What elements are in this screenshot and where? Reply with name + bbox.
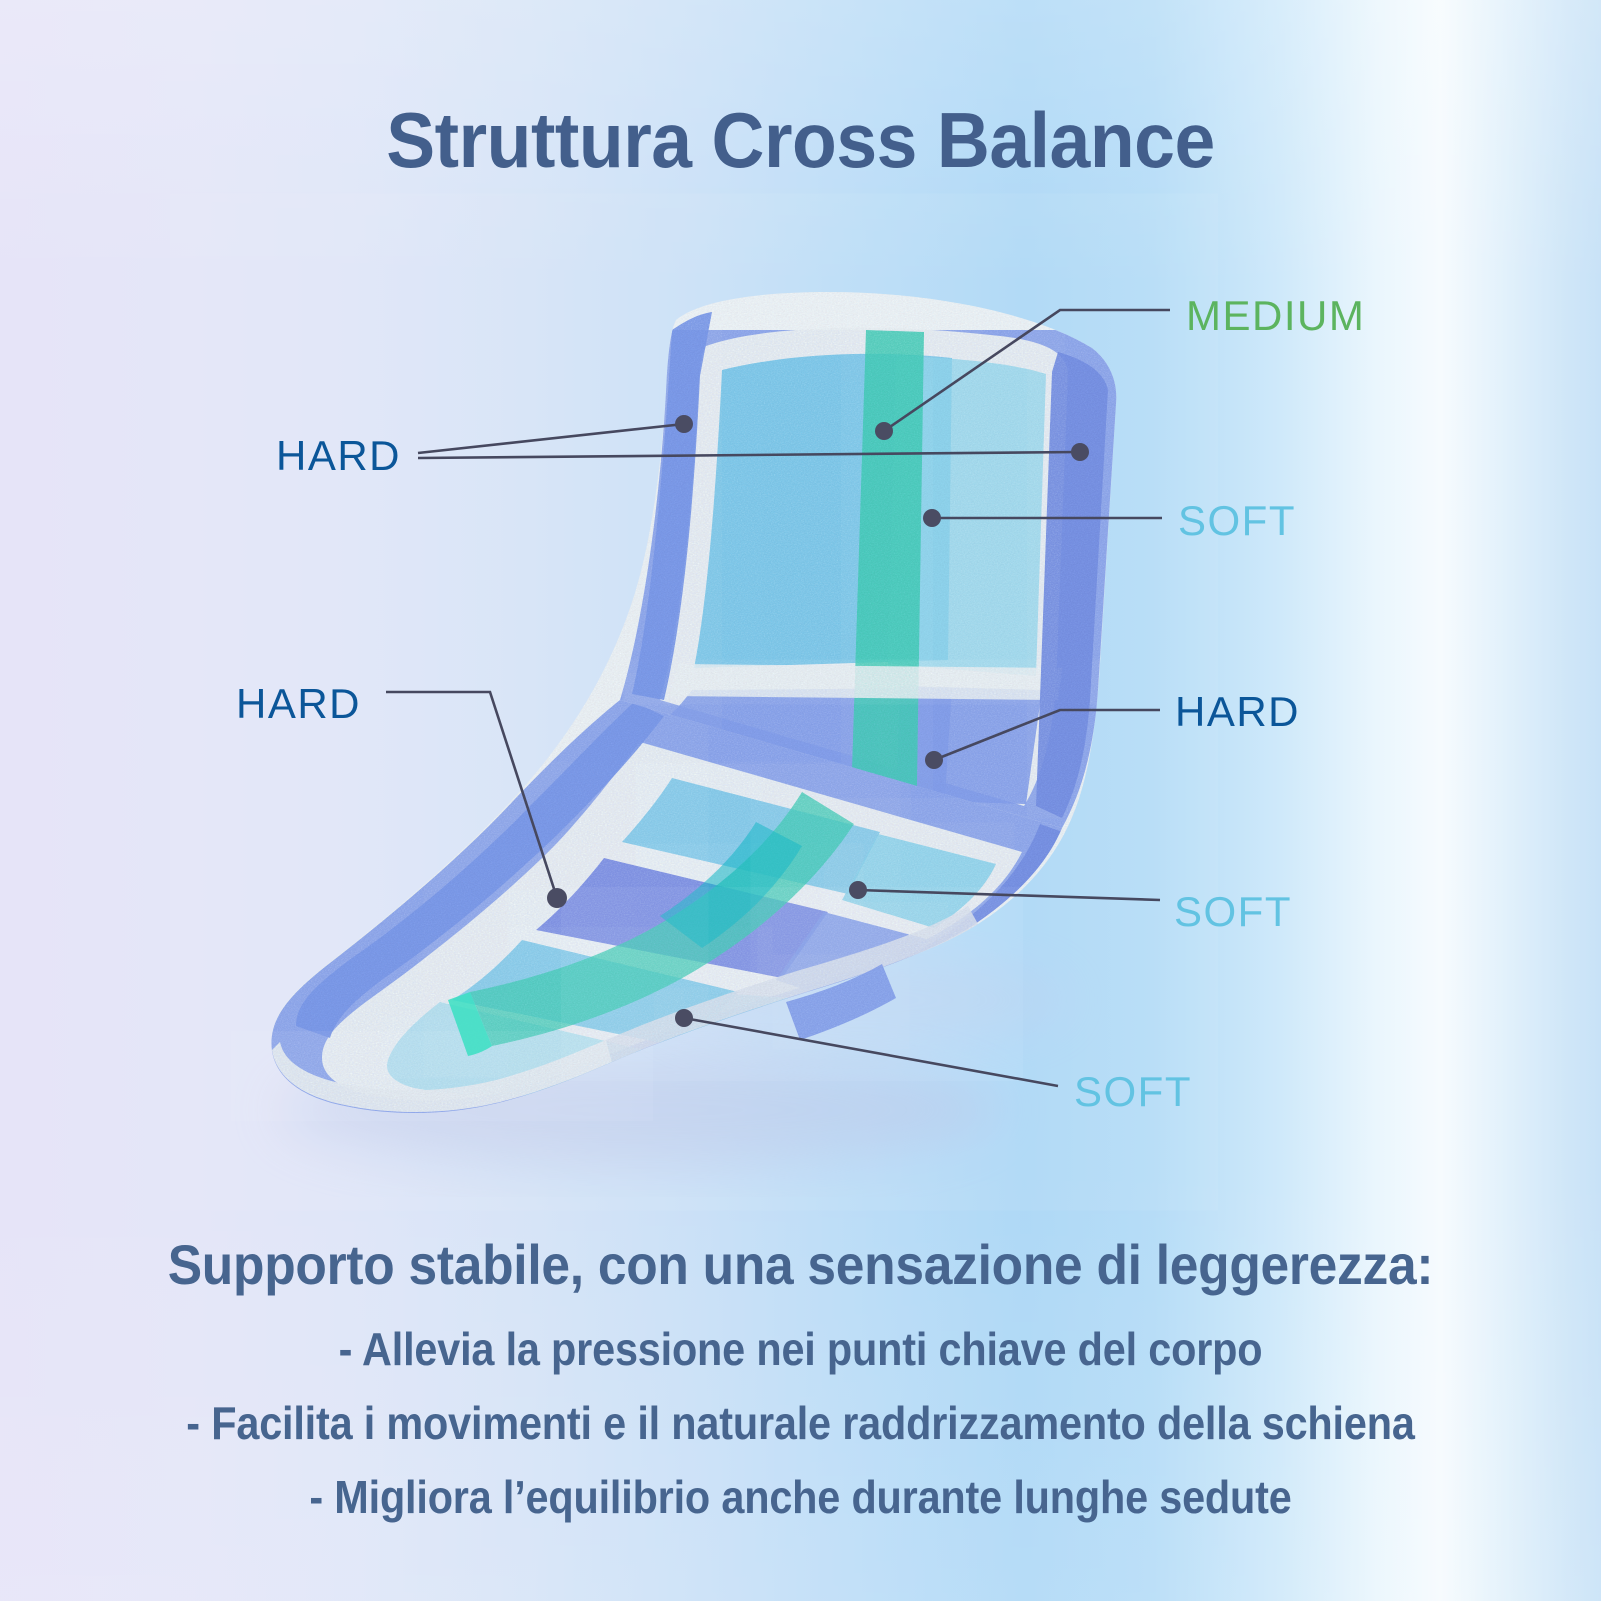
endpoint-medium	[875, 422, 893, 440]
benefits-heading: Supporto stabile, con una sensazione di …	[64, 1232, 1537, 1297]
endpoint-hard-backrest-left	[675, 415, 693, 433]
callout-label-hard-seat-right: HARD	[1175, 688, 1300, 736]
callout-label-medium-top: MEDIUM	[1186, 292, 1365, 340]
page-title: Struttura Cross Balance	[48, 95, 1553, 186]
benefit-item-1: - Allevia la pressione nei punti chiave …	[80, 1322, 1521, 1376]
endpoint-soft-seat-front	[675, 1009, 693, 1027]
endpoint-soft-seat-right	[849, 881, 867, 899]
callout-label-soft-backrest-right: SOFT	[1178, 497, 1296, 545]
callout-label-hard-seat-left: HARD	[236, 680, 361, 728]
endpoint-soft-backrest	[923, 509, 941, 527]
callout-label-soft-seat-front: SOFT	[1074, 1068, 1192, 1116]
infographic-canvas: Struttura Cross Balance	[0, 0, 1601, 1601]
benefit-item-2: - Facilita i movimenti e il naturale rad…	[80, 1396, 1521, 1450]
leader-hard-backrest-left	[418, 424, 684, 453]
endpoint-hard-seat-right	[925, 751, 943, 769]
benefit-item-3: - Migliora l’equilibrio anche durante lu…	[80, 1470, 1521, 1524]
callout-label-soft-seat-right: SOFT	[1174, 888, 1292, 936]
endpoint-hard-seat-left	[547, 888, 567, 908]
callout-label-hard-backrest-left: HARD	[276, 432, 401, 480]
endpoint-hard-backrest-right	[1071, 443, 1089, 461]
